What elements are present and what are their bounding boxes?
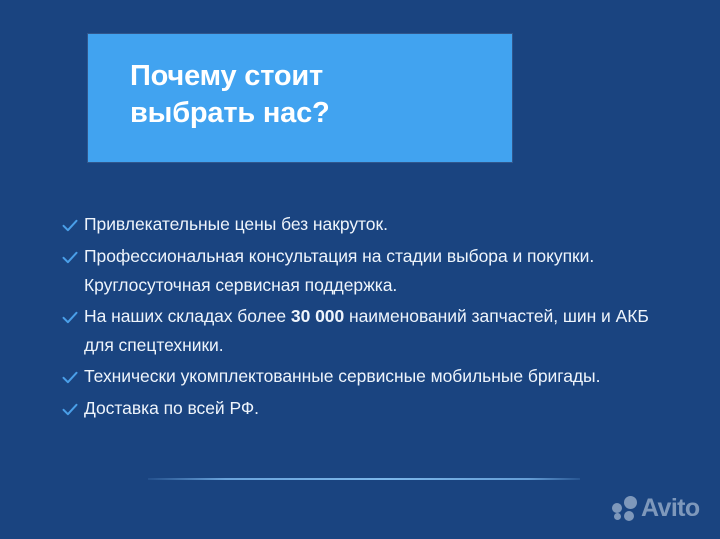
avito-brand-label: Avito	[641, 496, 700, 521]
check-icon	[62, 210, 84, 240]
avito-dots-logo	[612, 496, 638, 521]
slide-canvas: Почему стоит выбрать нас? Привлекательны…	[0, 0, 720, 539]
list-item-label: Технически укомплектованные сервисные мо…	[84, 362, 672, 391]
list-item-label: Доставка по всей РФ.	[84, 394, 672, 423]
list-item: Профессиональная консультация на стадии …	[62, 242, 672, 300]
check-icon	[62, 394, 84, 424]
check-icon	[62, 302, 84, 332]
list-item: На наших складах более 30 000 наименован…	[62, 302, 672, 360]
check-icon	[62, 242, 84, 272]
list-item-label: На наших складах более 30 000 наименован…	[84, 302, 672, 360]
list-item: Привлекательные цены без накруток.	[62, 210, 672, 240]
page-title: Почему стоит выбрать нас?	[130, 58, 500, 132]
title-banner: Почему стоит выбрать нас?	[88, 34, 512, 162]
list-item-label: Привлекательные цены без накруток.	[84, 210, 672, 239]
list-item: Доставка по всей РФ.	[62, 394, 672, 424]
divider	[148, 478, 580, 480]
avito-watermark: Avito	[612, 496, 700, 521]
list-item: Технически укомплектованные сервисные мо…	[62, 362, 672, 392]
list-item-label: Профессиональная консультация на стадии …	[84, 242, 672, 300]
benefits-list: Привлекательные цены без накруток. Профе…	[62, 210, 672, 426]
check-icon	[62, 362, 84, 392]
